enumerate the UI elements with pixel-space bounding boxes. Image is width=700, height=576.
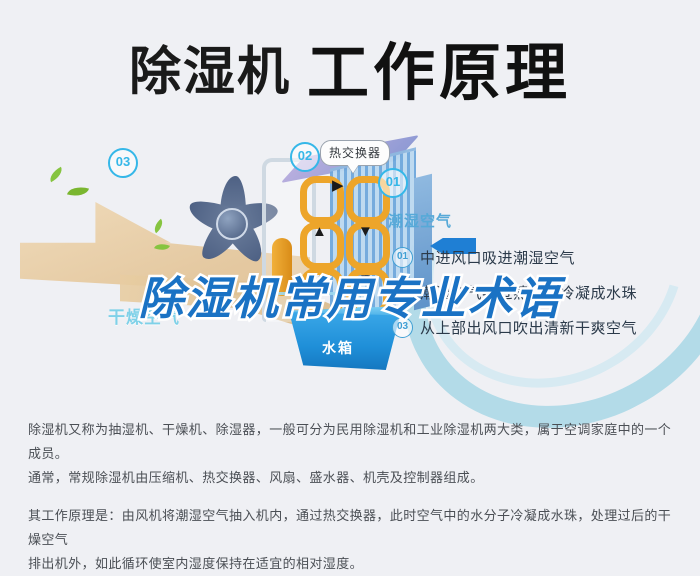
leaf-icon	[151, 219, 166, 233]
body-copy: 除湿机又称为抽湿机、干燥机、除湿器，一般可分为民用除湿机和工业除湿机两大类，属于…	[28, 418, 676, 576]
paragraph-gap	[28, 490, 676, 504]
diagram-badge-02: 02	[290, 142, 320, 172]
overlay-headline: 除湿机常用专业术语	[0, 262, 700, 327]
fan-hub	[216, 208, 248, 240]
flow-arrow-down-icon: ▼	[358, 224, 373, 239]
flow-arrow-up-icon: ▲	[312, 224, 327, 239]
paragraph-1-line-2: 通常，常规除湿机由压缩机、热交换器、风扇、盛水器、机壳及控制器组成。	[28, 466, 676, 490]
page-title: 除湿机工作原理	[0, 22, 700, 112]
wet-air-label: 潮湿空气	[388, 210, 452, 231]
heat-exchanger-callout: 热交换器	[320, 140, 390, 166]
paragraph-2-line-2: 排出机外，如此循环使室内湿度保持在适宜的相对湿度。	[28, 552, 676, 576]
page-root: 除湿机工作原理 干燥空气	[0, 0, 700, 566]
diagram-badge-01: 01	[378, 168, 408, 198]
leaf-icon	[67, 184, 89, 200]
page-title-part1: 除湿机	[129, 44, 291, 102]
flow-arrow-right-icon: ▶	[332, 178, 344, 193]
water-tank-label: 水箱	[322, 338, 354, 358]
paragraph-2-line-1: 其工作原理是：由风机将潮湿空气抽入机内，通过热交换器，此时空气中的水分子冷凝成水…	[28, 504, 676, 552]
leaf-icon	[47, 167, 65, 182]
page-title-part2: 工作原理	[307, 39, 571, 108]
diagram-badge-03: 03	[108, 148, 138, 178]
paragraph-1-line-1: 除湿机又称为抽湿机、干燥机、除湿器，一般可分为民用除湿机和工业除湿机两大类，属于…	[28, 418, 676, 466]
